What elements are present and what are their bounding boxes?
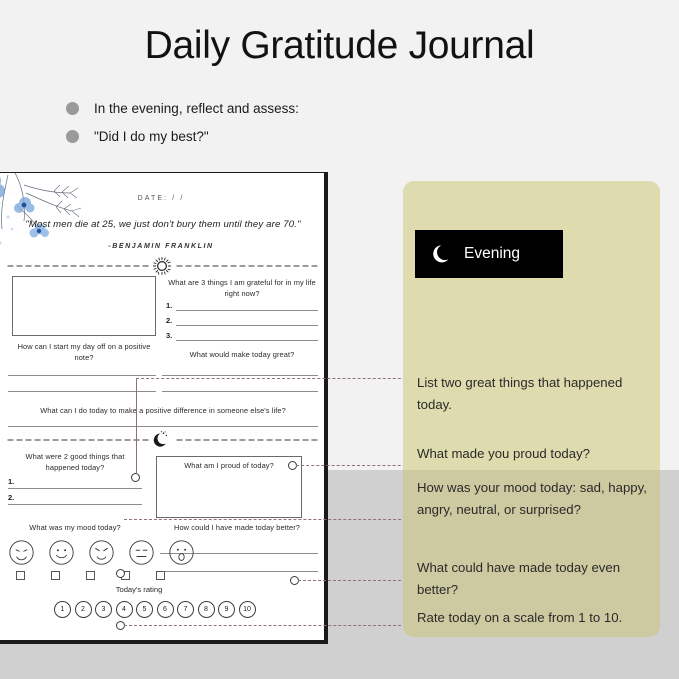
write-line[interactable] <box>8 426 318 427</box>
panel-prompt-proud: What made you proud today? <box>417 443 657 465</box>
rating-option[interactable]: 10 <box>239 601 256 618</box>
annotation-connector <box>124 625 421 626</box>
answer-box-looking-forward[interactable] <box>12 276 156 336</box>
write-line[interactable] <box>8 375 156 376</box>
write-line[interactable] <box>8 391 156 392</box>
write-line[interactable] <box>162 375 318 376</box>
mood-checkbox[interactable] <box>86 571 95 580</box>
annotation-marker <box>116 569 125 578</box>
sun-icon <box>149 257 175 275</box>
list-number: 2. <box>166 316 172 325</box>
bullet-list: In the evening, reflect and assess: "Did… <box>66 96 299 152</box>
rating-option[interactable]: 8 <box>198 601 215 618</box>
happy-face-icon[interactable] <box>48 539 75 566</box>
bullet-text: In the evening, reflect and assess: <box>94 101 299 116</box>
rating-scale: 1 2 3 4 5 6 7 8 9 10 <box>54 601 256 618</box>
evening-divider <box>6 431 318 449</box>
annotation-marker <box>131 473 140 482</box>
journal-page: DATE: / / "Most men die at 25, we just d… <box>0 172 328 644</box>
evening-badge-label: Evening <box>464 245 520 263</box>
list-number: 1. <box>166 301 172 310</box>
panel-prompt-mood: How was your mood today: sad, happy, ang… <box>417 477 657 520</box>
list-item: "Did I do my best?" <box>66 124 299 148</box>
page-title: Daily Gratitude Journal <box>0 24 679 68</box>
angry-face-icon[interactable] <box>88 539 115 566</box>
rating-option[interactable]: 5 <box>136 601 153 618</box>
prompt-positive-difference: What can I do today to make a positive d… <box>8 405 318 416</box>
mood-face-row <box>8 539 195 566</box>
prompt-mood-today: What was my mood today? <box>8 522 142 533</box>
annotation-connector <box>136 378 421 379</box>
rating-option[interactable]: 3 <box>95 601 112 618</box>
screenshot-root: Daily Gratitude Journal In the evening, … <box>0 0 679 679</box>
quote-author: -BENJAMIN FRANKLIN <box>0 243 328 250</box>
crescent-moon-icon <box>432 243 453 265</box>
prompt-made-better: How could I have made today better? <box>156 522 318 533</box>
rating-option[interactable]: 9 <box>218 601 235 618</box>
rating-option[interactable]: 6 <box>157 601 174 618</box>
write-line[interactable] <box>176 340 318 341</box>
dotted-line <box>6 439 149 441</box>
mood-checkbox[interactable] <box>16 571 25 580</box>
header: Daily Gratitude Journal In the evening, … <box>0 0 679 160</box>
mood-checkbox[interactable] <box>156 571 165 580</box>
write-line[interactable] <box>176 325 318 326</box>
list-number: 1. <box>8 477 14 486</box>
sad-face-icon[interactable] <box>8 539 35 566</box>
date-field-label: DATE: / / <box>0 195 328 202</box>
rating-label: Today's rating <box>0 585 284 594</box>
rating-option[interactable]: 7 <box>177 601 194 618</box>
dotted-line <box>6 265 149 267</box>
moon-stars-icon <box>149 431 175 449</box>
annotation-connector <box>124 519 421 520</box>
panel-prompt-great-things: List two great things that happened toda… <box>417 372 657 415</box>
dotted-line <box>175 265 318 267</box>
panel-prompt-better: What could have made today even better? <box>417 557 657 600</box>
write-line[interactable] <box>8 504 142 505</box>
bullet-text: "Did I do my best?" <box>94 129 209 144</box>
evening-badge: Evening <box>415 230 563 278</box>
list-item: In the evening, reflect and assess: <box>66 96 299 120</box>
list-number: 2. <box>8 493 14 502</box>
neutral-face-icon[interactable] <box>128 539 155 566</box>
mood-checkbox-row <box>16 571 165 580</box>
bullet-dot-icon <box>66 102 79 115</box>
prompt-positive-note: How can I start my day off on a positive… <box>12 341 156 363</box>
prompt-two-good-things: What were 2 good things that happened to… <box>8 451 142 473</box>
write-line[interactable] <box>160 571 318 572</box>
annotation-connector-vertical <box>136 378 137 474</box>
dotted-line <box>175 439 318 441</box>
write-line[interactable] <box>176 310 318 311</box>
rating-option[interactable]: 1 <box>54 601 71 618</box>
morning-divider <box>6 257 318 275</box>
list-number: 3. <box>166 331 172 340</box>
prompt-proud-of: What am I proud of today? <box>156 460 302 471</box>
mood-checkbox[interactable] <box>51 571 60 580</box>
write-line[interactable] <box>8 488 142 489</box>
write-line[interactable] <box>162 391 318 392</box>
quote-text: "Most men die at 25, we just don't bury … <box>8 219 318 230</box>
prompt-grateful: What are 3 things I am grateful for in m… <box>166 277 318 299</box>
panel-prompt-rate: Rate today on a scale from 1 to 10. <box>417 607 657 629</box>
rating-option[interactable]: 2 <box>75 601 92 618</box>
rating-option[interactable]: 4 <box>116 601 133 618</box>
bullet-dot-icon <box>66 130 79 143</box>
surprised-face-icon[interactable] <box>168 539 195 566</box>
prompt-today-great: What would make today great? <box>166 349 318 360</box>
